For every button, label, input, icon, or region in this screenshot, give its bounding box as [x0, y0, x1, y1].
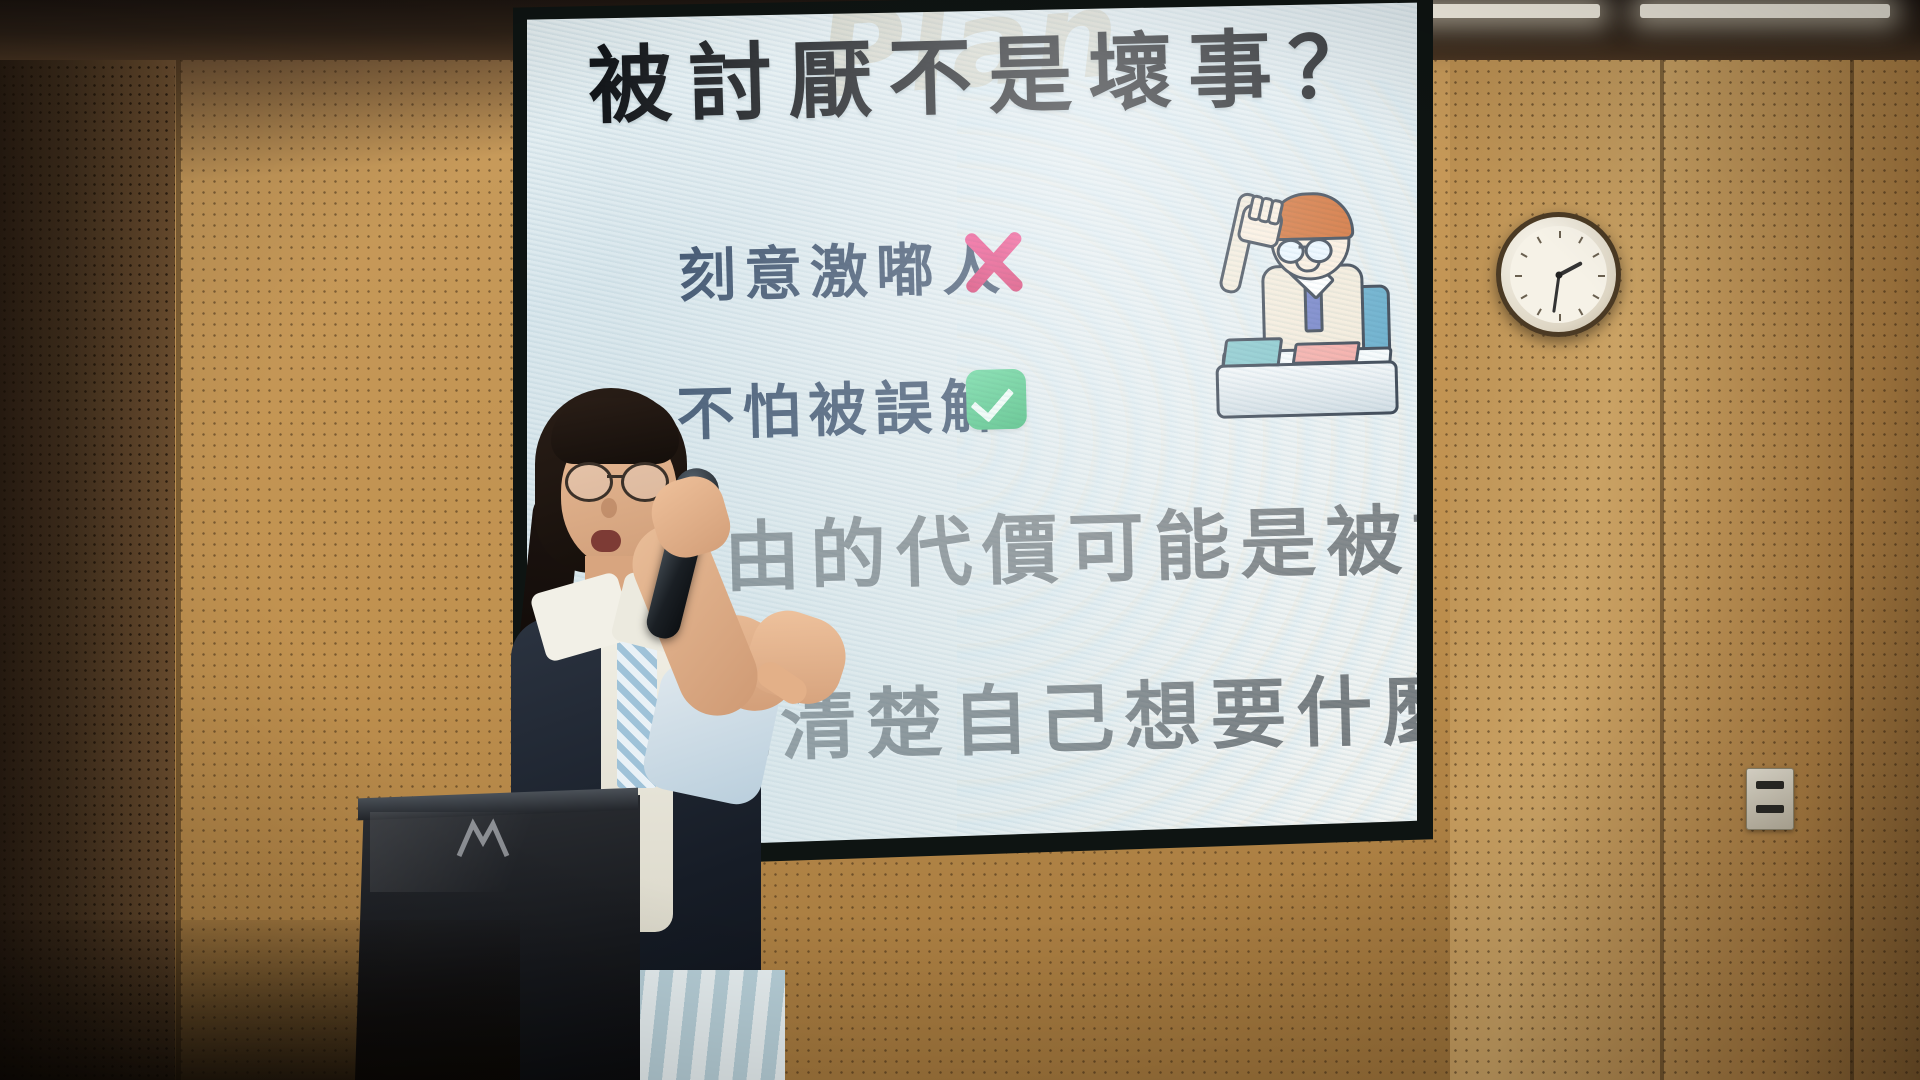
lens-left [565, 462, 613, 502]
ceiling-light [1640, 4, 1890, 18]
wall-seam [1660, 0, 1664, 1080]
nose [601, 498, 617, 518]
wall-seam [176, 0, 181, 1080]
photo-scene: Plan 被討厭不是壞事？ 刻意激嘟人 不怕被誤解 自由的代價可能是被討厭 能清… [0, 0, 1920, 1080]
left-wall-perforation-texture [0, 0, 175, 1080]
clock-minute-hand [1552, 274, 1560, 312]
hair-fringe [551, 398, 679, 464]
wall-seam [1850, 0, 1854, 1080]
lectern-emblem-icon [455, 818, 511, 860]
floor-shadow [0, 920, 520, 1080]
glasses-bridge [607, 475, 623, 478]
wall-clock [1496, 212, 1621, 337]
mouth [591, 530, 621, 552]
clock-center-pin [1555, 271, 1562, 278]
wall-outlet[interactable] [1746, 768, 1794, 830]
clock-face [1510, 226, 1607, 323]
